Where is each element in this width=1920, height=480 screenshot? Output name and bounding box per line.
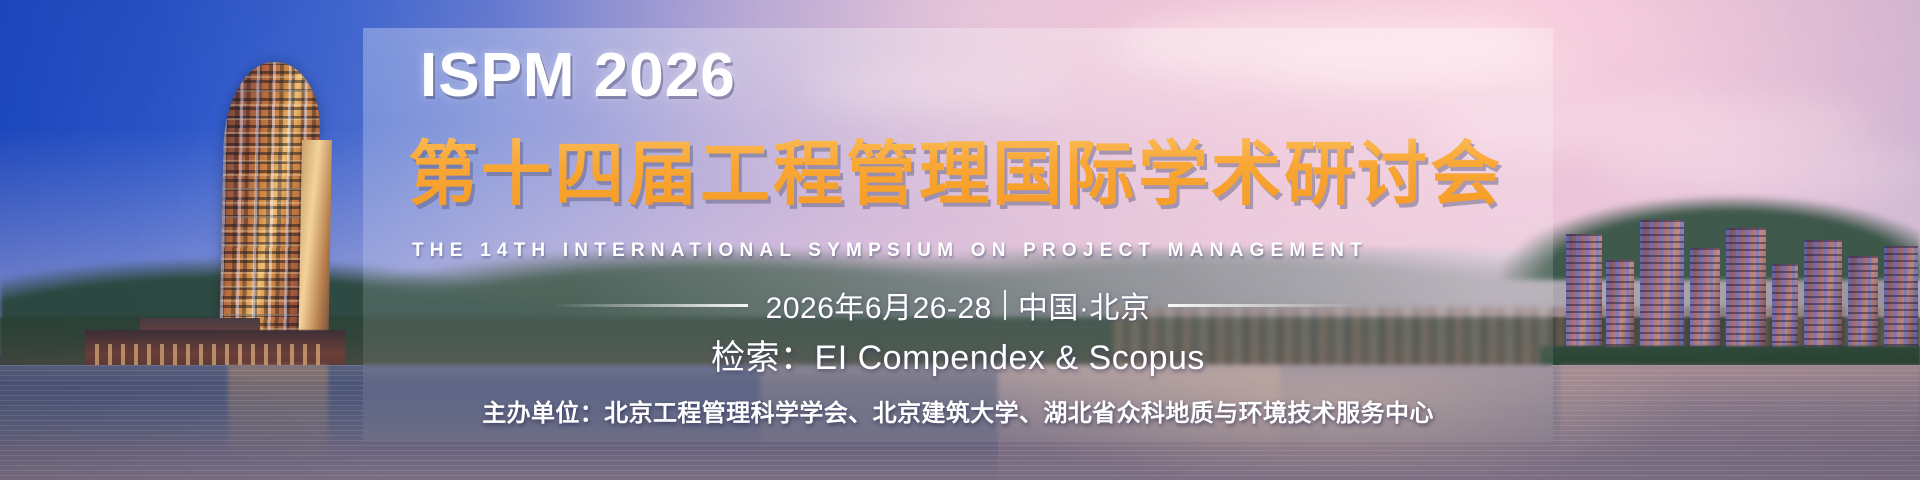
banner-text-content: ISPM 2026 第十四届工程管理国际学术研讨会 THE 14TH INTER… bbox=[0, 0, 1920, 480]
decorative-rule-right bbox=[1168, 304, 1364, 307]
conference-chinese-title: 第十四届工程管理国际学术研讨会 bbox=[408, 118, 1503, 219]
date-location-row: 2026年6月26-28 中国·北京 bbox=[363, 283, 1553, 327]
conference-english-subtitle: THE 14TH INTERNATIONAL SYMPSIUM ON PROJE… bbox=[412, 240, 1368, 262]
date-location-text: 2026年6月26-28 中国·北京 bbox=[766, 283, 1151, 327]
conference-banner: ISPM 2026 第十四届工程管理国际学术研讨会 THE 14TH INTER… bbox=[0, 0, 1920, 480]
indexing-databases-text: 检索：EI Compendex & Scopus bbox=[363, 330, 1553, 379]
decorative-rule-left bbox=[552, 304, 748, 307]
conference-date: 2026年6月26-28 bbox=[766, 283, 992, 327]
conference-acronym-title: ISPM 2026 bbox=[420, 40, 736, 111]
conference-location: 中国·北京 bbox=[1018, 283, 1151, 327]
host-organizations-text: 主办单位：北京工程管理科学学会、北京建筑大学、湖北省众科地质与环境技术服务中心 bbox=[363, 393, 1553, 428]
vertical-separator-bar bbox=[1004, 290, 1006, 320]
